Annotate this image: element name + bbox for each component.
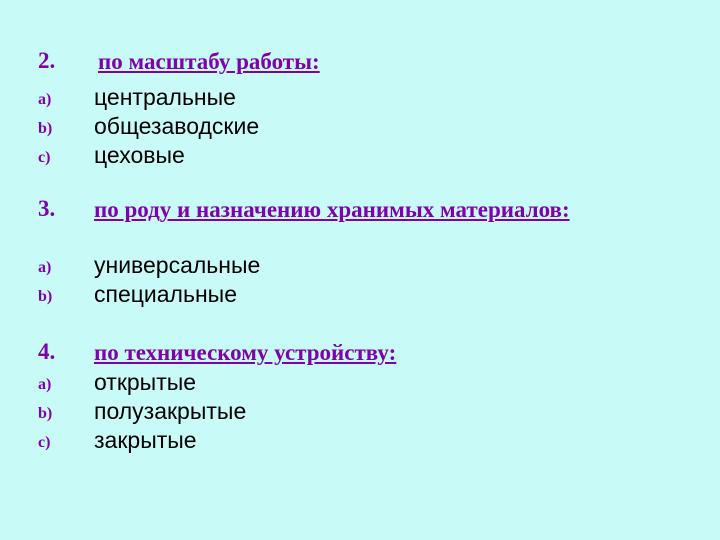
list-item: a) открытые (38, 368, 688, 397)
list-block-heading-3: 3. по роду и назначению хранимых материа… (38, 196, 688, 223)
slide: 2. по масштабу работы: a) центральные b)… (0, 0, 720, 540)
list-marker-2: 2. (38, 48, 94, 75)
list-item-text-2b: общезаводские (94, 112, 688, 140)
list-item: a) универсальные (38, 251, 688, 280)
slide-content: 2. по масштабу работы: a) центральные b)… (38, 48, 688, 455)
list-marker-4b: b) (38, 397, 94, 426)
spacer (38, 225, 688, 251)
list-marker-2c: c) (38, 141, 94, 170)
list-item-text-2a: центральные (94, 83, 688, 111)
list-marker-3b: b) (38, 280, 94, 309)
list-marker-3a: a) (38, 251, 94, 280)
list-marker-2b: b) (38, 112, 94, 141)
list-item-text-4a: открытые (94, 368, 688, 396)
list-item: c) закрытые (38, 426, 688, 455)
spacer (38, 309, 688, 339)
list-item-text-4c: закрытые (94, 426, 688, 454)
list-marker-4: 4. (38, 339, 94, 366)
list-item: a) центральные (38, 83, 688, 112)
list-item-text-2c: цеховые (94, 141, 688, 169)
list-heading-4: по техническому устройству: (94, 339, 688, 366)
list-item-text-3a: универсальные (94, 251, 688, 279)
list-item: b) полузакрытые (38, 397, 688, 426)
list-item-text-3b: специальные (94, 280, 688, 308)
list-item-text-4b: полузакрытые (94, 397, 688, 425)
list-marker-3: 3. (38, 196, 94, 223)
spacer (38, 170, 688, 196)
list-heading-2: по масштабу работы: (94, 48, 688, 75)
list-item: b) общезаводские (38, 112, 688, 141)
list-item: b) специальные (38, 280, 688, 309)
list-block-heading-2: 2. по масштабу работы: (38, 48, 688, 75)
list-marker-2a: a) (38, 83, 94, 112)
list-block-heading-4: 4. по техническому устройству: (38, 339, 688, 366)
list-marker-4c: c) (38, 426, 94, 455)
list-heading-3: по роду и назначению хранимых материалов… (94, 196, 688, 223)
list-item: c) цеховые (38, 141, 688, 170)
list-marker-4a: a) (38, 368, 94, 397)
